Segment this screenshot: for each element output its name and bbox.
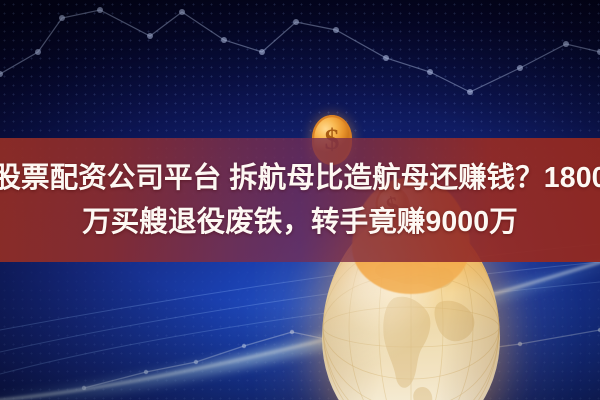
headline-line-2: 万买艘退役废铁，转手竟赚9000万 [82, 201, 518, 243]
headline-line-1: 股票配资公司平台 拆航母比造航母还赚钱？1800 [0, 157, 600, 199]
promo-banner-image: $ $ 股票配资公司平台 拆航母比造航母还赚钱？1800 万买艘退役废铁，转手竟… [0, 0, 600, 400]
headline-block: 股票配资公司平台 拆航母比造航母还赚钱？1800 万买艘退役废铁，转手竟赚900… [0, 138, 600, 262]
